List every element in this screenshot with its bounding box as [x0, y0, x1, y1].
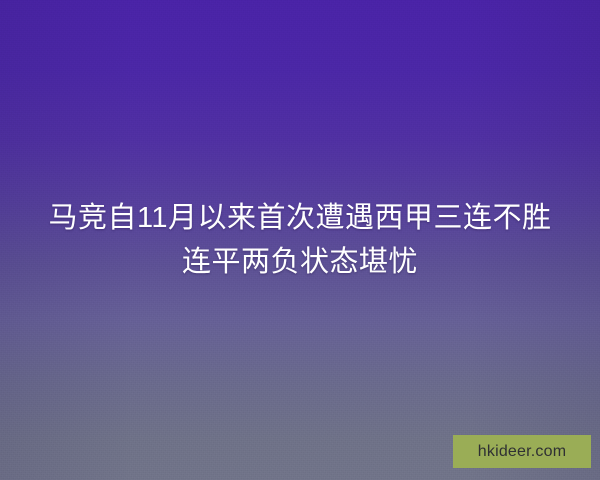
headline-line-1: 马竞自11月以来首次遭遇西甲三连不胜: [0, 196, 600, 240]
watermark-label: hkideer.com: [478, 444, 566, 460]
headline-line-2: 连平两负状态堪忧: [0, 240, 600, 284]
poster-canvas: 马竞自11月以来首次遭遇西甲三连不胜 连平两负状态堪忧 hkideer.com: [0, 0, 600, 480]
poster-headline: 马竞自11月以来首次遭遇西甲三连不胜 连平两负状态堪忧: [0, 196, 600, 284]
watermark-badge: hkideer.com: [453, 435, 591, 468]
